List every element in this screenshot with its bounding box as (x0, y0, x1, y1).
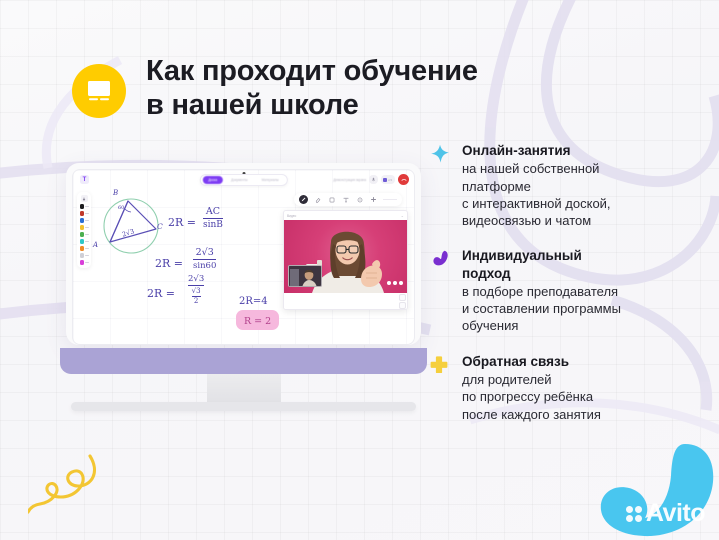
stroke-preview (85, 234, 89, 235)
video-panel-title: Видео (287, 214, 296, 218)
fraction-bar (193, 259, 216, 260)
formula-1-left: 2R = (168, 216, 196, 229)
plus-icon-glyph (430, 355, 448, 373)
monitor-stand-base (71, 402, 416, 411)
whiteboard-tabs: Доска Документы Материалы (199, 174, 287, 186)
swatch-row[interactable] (79, 246, 89, 251)
fraction-bar (188, 285, 204, 286)
formula-2-fraction: 2√3 sin60 (193, 247, 216, 271)
microphone-icon (371, 177, 376, 182)
formula-2-left: 2R = (155, 257, 183, 270)
page-title: Как проходит обучение в нашей школе (146, 55, 478, 122)
stroke-preview (85, 241, 89, 242)
pip-person (289, 266, 322, 287)
lock-icon-glyph (82, 197, 86, 201)
dot (635, 506, 642, 513)
color-swatch[interactable] (80, 218, 84, 223)
sticker-icon[interactable] (355, 195, 364, 204)
vertex-label-b: B (113, 189, 118, 197)
avito-watermark: Avito (626, 499, 705, 528)
tab-documents[interactable]: Документы (225, 176, 253, 184)
monitor-icon (72, 64, 126, 118)
color-swatch[interactable] (80, 232, 84, 237)
formula-1-fraction: AC sinB (203, 206, 223, 230)
pip-thumbnail[interactable] (288, 265, 322, 287)
swatch-row[interactable] (79, 253, 89, 258)
swatch-row[interactable] (79, 225, 89, 230)
sticker-icon-glyph (357, 197, 363, 203)
video-call-panel[interactable]: Видео ⌄ (283, 210, 408, 310)
pen-icon[interactable] (299, 195, 308, 204)
monitor-stand-neck (207, 374, 281, 402)
formula-3-left: 2R = (147, 287, 175, 300)
color-swatch[interactable] (80, 211, 84, 216)
dot (626, 515, 633, 522)
monitor-illustration: T Доска Документы Материалы Демонстрация… (66, 163, 421, 411)
eraser-icon[interactable] (313, 195, 322, 204)
feature-body: для родителей по прогрессу ребёнка после… (462, 371, 601, 423)
stroke-preview (85, 248, 89, 249)
feature-text: Индивидуальный подход в подборе преподав… (462, 247, 621, 334)
whiteboard-screen[interactable]: T Доска Документы Материалы Демонстрация… (72, 169, 415, 345)
color-swatch[interactable] (80, 253, 84, 258)
result-r: R = 2 (244, 316, 271, 327)
stroke-preview (85, 255, 89, 256)
formula-1-numerator: AC (203, 206, 223, 217)
page-header: Как проходит обучение в нашей школе (72, 55, 478, 122)
formula-3-inner-numerator: √3 (192, 287, 201, 295)
feature-body: на нашей собственной платформе с интерак… (462, 160, 611, 229)
formula-3-nested-fraction: √3 2 (192, 287, 201, 305)
participants-icon (383, 178, 387, 182)
video-panel-footer (284, 293, 407, 309)
result-highlight: R = 2 (236, 310, 279, 330)
feature-body: в подборе преподавателя и составлении пр… (462, 283, 621, 335)
more-icon[interactable]: ⌄ (401, 213, 404, 218)
stroke-preview (85, 206, 89, 207)
vertex-label-c: C (157, 222, 163, 231)
feature-title: Обратная связь (462, 353, 601, 370)
text-icon-glyph (343, 197, 349, 203)
feature-title: Индивидуальный подход (462, 247, 621, 282)
feature-item-feedback: Обратная связь для родителей по прогресс… (430, 353, 700, 423)
dot (399, 281, 403, 285)
comma-curve-icon (430, 247, 452, 334)
color-swatch[interactable] (80, 239, 84, 244)
dot (387, 281, 391, 285)
stroke-preview (85, 220, 89, 221)
formula-2-numerator: 2√3 (193, 247, 216, 258)
feature-text: Онлайн-занятия на нашей собственной плат… (462, 142, 611, 229)
whiteboard-toolbar (294, 193, 402, 206)
formula-1-denominator: sinB (203, 220, 223, 230)
shapes-icon-glyph (329, 197, 335, 203)
color-palette (77, 192, 91, 268)
color-swatch[interactable] (80, 260, 84, 265)
feature-list: Онлайн-занятия на нашей собственной плат… (430, 142, 700, 441)
avito-dots-icon (626, 506, 642, 522)
dot (635, 515, 642, 522)
lock-icon[interactable] (81, 195, 88, 202)
app-logo[interactable]: T (80, 175, 89, 184)
share-screen-label[interactable]: Демонстрация экрана (333, 178, 366, 182)
avito-wordmark: Avito (646, 499, 705, 528)
swatch-row[interactable] (79, 204, 89, 209)
video-panel-header: Видео ⌄ (284, 211, 407, 220)
hangup-button[interactable] (398, 174, 409, 185)
shapes-icon[interactable] (327, 195, 336, 204)
yellow-squiggle-icon (28, 452, 118, 532)
toolbar-divider (383, 199, 397, 200)
angle-label: 60 (118, 205, 124, 211)
comma-curve-icon-glyph (430, 249, 450, 269)
feature-text: Обратная связь для родителей по прогресс… (462, 353, 601, 423)
monitor-body: T Доска Документы Материалы Демонстрация… (66, 163, 421, 345)
vertex-label-a: A (93, 241, 98, 249)
panel-zoom-button[interactable] (399, 302, 406, 309)
add-icon[interactable] (369, 195, 378, 204)
feature-item-online-lessons: Онлайн-занятия на нашей собственной плат… (430, 142, 700, 229)
star-icon (430, 142, 452, 229)
formula-3-fraction: 2√3 √3 2 (188, 274, 204, 308)
text-icon[interactable] (341, 195, 350, 204)
formula-3-inner-denominator: 2 (192, 297, 201, 305)
color-swatch[interactable] (80, 204, 84, 209)
pen-icon-glyph (301, 197, 306, 202)
swatch-row[interactable] (79, 218, 89, 223)
whiteboard-topbar-right: Демонстрация экрана 2/4 (333, 174, 409, 185)
dot (626, 506, 633, 513)
fraction-bar (203, 218, 223, 219)
color-swatch[interactable] (80, 225, 84, 230)
participants-chip[interactable]: 2/4 (381, 175, 395, 184)
participants-count: 2/4 (388, 178, 392, 182)
swatch-row[interactable] (79, 232, 89, 237)
swatch-row[interactable] (79, 260, 89, 265)
result-2r: 2R=4 (239, 296, 268, 307)
mic-toggle[interactable] (369, 175, 378, 184)
eraser-icon-glyph (315, 197, 321, 203)
whiteboard-topbar: T Доска Документы Материалы Демонстрация… (73, 170, 414, 188)
formula-2-denominator: sin60 (193, 261, 216, 271)
plus-icon (430, 353, 452, 423)
swatch-row[interactable] (79, 211, 89, 216)
tab-materials[interactable]: Материалы (256, 176, 285, 184)
monitor-chin (60, 348, 427, 374)
phone-hangup-icon (401, 177, 407, 183)
formula-3-numerator: 2√3 (188, 274, 204, 284)
star-icon-glyph (430, 144, 450, 164)
stroke-preview (85, 213, 89, 214)
monitor-icon-glyph (84, 78, 114, 104)
options-dots-icon[interactable] (387, 281, 403, 285)
tab-board[interactable]: Доска (202, 176, 223, 184)
dot (393, 281, 397, 285)
panel-resize-button[interactable] (399, 294, 406, 301)
stroke-preview (85, 262, 89, 263)
video-feed (284, 220, 407, 293)
swatch-row[interactable] (79, 239, 89, 244)
stroke-preview (85, 227, 89, 228)
color-swatch[interactable] (80, 246, 84, 251)
feature-title: Онлайн-занятия (462, 142, 611, 159)
feature-item-individual-approach: Индивидуальный подход в подборе преподав… (430, 247, 700, 334)
add-icon-glyph (370, 196, 377, 203)
